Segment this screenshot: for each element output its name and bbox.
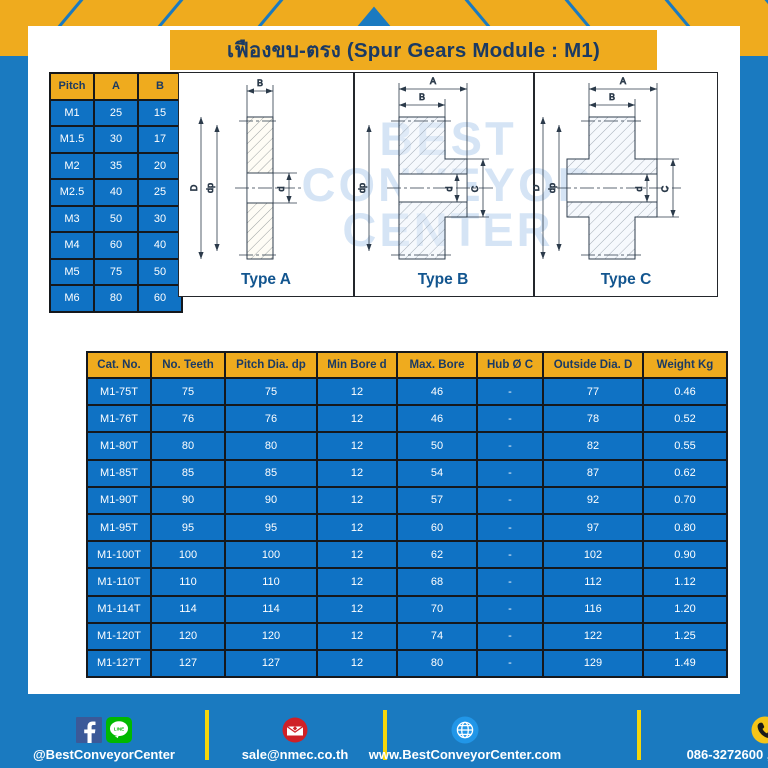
pitch-cell-value: 25 [95,101,137,126]
spec-cell-value: 90 [226,488,316,513]
pitch-col-pitch: Pitch [51,74,93,99]
spec-cell-value: 0.52 [644,406,726,431]
pitch-table-row: M1.53017 [51,127,181,152]
spec-cell-value: 75 [226,379,316,404]
spec-column-header: Min Bore d [318,353,396,377]
svg-text:D: D [189,184,199,191]
svg-text:A: A [430,76,436,86]
spec-cell-value: 1.20 [644,597,726,622]
pitch-table-row: M57550 [51,260,181,285]
pitch-cell-value: 20 [139,154,181,179]
svg-text:d: d [444,186,454,191]
spec-cell-value: 100 [226,542,316,567]
spec-cell-value: 0.80 [644,515,726,540]
table-row: M1-114T1141141270-1161.20 [88,597,726,622]
spec-column-header: No. Teeth [152,353,224,377]
spec-table-header-row: Cat. No.No. TeethPitch Dia. dpMin Bore d… [88,353,726,377]
spec-cell-value: 92 [544,488,642,513]
pitch-table-row: M23520 [51,154,181,179]
pitch-cell-pitch: M3 [51,207,93,232]
pitch-cell-pitch: M5 [51,260,93,285]
spec-cell-value: 12 [318,433,396,458]
spec-table: Cat. No.No. TeethPitch Dia. dpMin Bore d… [86,351,728,678]
spec-cell-value: 50 [398,433,476,458]
spec-cell-value: 12 [318,569,396,594]
spec-cell-value: 80 [226,433,316,458]
spec-cell-value: - [478,569,542,594]
type-c-label: Type C [601,271,652,289]
table-row: M1-120T1201201274-1221.25 [88,624,726,649]
spec-cell-value: - [478,651,542,676]
spec-column-header: Max. Bore [398,353,476,377]
spec-cell-value: - [478,406,542,431]
spec-cell-value: - [478,542,542,567]
diagram-type-c: A B D [533,73,718,296]
spec-cell-value: 74 [398,624,476,649]
footer-social-text: @BestConveyorCenter [33,747,175,762]
footer-contact-bar: LINE @BestConveyorCenter sale@nmec.co. [0,694,768,768]
type-a-label: Type A [241,271,291,289]
table-row: M1-90T90901257-920.70 [88,488,726,513]
spec-cell-catalog-no: M1-110T [88,569,150,594]
pitch-cell-value: 35 [95,154,137,179]
spec-cell-catalog-no: M1-100T [88,542,150,567]
line-icon[interactable]: LINE [106,717,132,743]
spec-cell-value: - [478,515,542,540]
spec-cell-value: - [478,433,542,458]
pitch-cell-pitch: M4 [51,233,93,258]
svg-text:dp: dp [357,183,367,193]
svg-text:LINE: LINE [114,726,124,731]
pitch-cell-pitch: M6 [51,286,93,311]
svg-text:B: B [609,92,615,102]
spec-cell-value: 0.55 [644,433,726,458]
spec-cell-value: 112 [544,569,642,594]
spec-cell-value: 76 [226,406,316,431]
spec-cell-value: 85 [152,461,224,486]
pitch-table: Pitch A B M12515M1.53017M23520M2.54025M3… [49,72,183,313]
spec-cell-value: 12 [318,488,396,513]
spec-cell-value: - [478,461,542,486]
spec-cell-value: 110 [152,569,224,594]
spec-column-header: Hub Ø C [478,353,542,377]
pitch-cell-value: 60 [95,233,137,258]
spec-cell-value: 80 [152,433,224,458]
type-b-label: Type B [418,271,469,289]
spec-cell-value: 0.70 [644,488,726,513]
spec-cell-catalog-no: M1-95T [88,515,150,540]
pitch-cell-pitch: M2 [51,154,93,179]
spec-table-container: Cat. No.No. TeethPitch Dia. dpMin Bore d… [86,351,728,678]
spec-cell-value: 12 [318,597,396,622]
pitch-cell-value: 50 [95,207,137,232]
pitch-cell-value: 17 [139,127,181,152]
spec-cell-catalog-no: M1-76T [88,406,150,431]
pitch-table-row: M2.54025 [51,180,181,205]
spec-cell-value: 12 [318,651,396,676]
pitch-col-b: B [139,74,181,99]
pitch-table-body: M12515M1.53017M23520M2.54025M35030M46040… [51,101,181,311]
pitch-table-header-row: Pitch A B [51,74,181,99]
table-row: M1-127T1271271280-1291.49 [88,651,726,676]
spec-cell-value: 60 [398,515,476,540]
page-title: เฟืองขบ-ตรง (Spur Gears Module : M1) [170,30,657,70]
type-c-drawing: A B D [533,73,718,269]
spec-cell-value: 129 [544,651,642,676]
facebook-icon[interactable] [76,717,102,743]
spec-cell-value: 120 [226,624,316,649]
spec-cell-value: 1.25 [644,624,726,649]
spec-cell-value: 127 [152,651,224,676]
spec-table-body: M1-75T75751246-770.46M1-76T76761246-780.… [88,379,726,676]
pitch-cell-value: 75 [95,260,137,285]
svg-text:B: B [419,92,425,102]
spec-cell-value: 116 [544,597,642,622]
spec-cell-value: 95 [226,515,316,540]
spec-cell-value: 12 [318,379,396,404]
svg-text:B: B [257,78,263,88]
globe-icon[interactable] [451,716,479,744]
pitch-cell-value: 50 [139,260,181,285]
type-b-drawing: A B dp [353,73,533,269]
spec-column-header: Weight Kg [644,353,726,377]
diagram-type-a: B D dp [179,73,353,296]
spec-cell-value: 12 [318,624,396,649]
spec-cell-value: 76 [152,406,224,431]
svg-text:A: A [620,76,626,86]
spec-cell-value: 46 [398,379,476,404]
table-row: M1-76T76761246-780.52 [88,406,726,431]
spec-cell-value: 12 [318,515,396,540]
pitch-table-row: M12515 [51,101,181,126]
spec-cell-value: 90 [152,488,224,513]
table-row: M1-95T95951260-970.80 [88,515,726,540]
spec-cell-value: 46 [398,406,476,431]
spec-cell-catalog-no: M1-80T [88,433,150,458]
svg-text:C: C [470,185,480,192]
spec-cell-value: - [478,597,542,622]
spec-cell-catalog-no: M1-75T [88,379,150,404]
footer-phone[interactable]: 086-3272600 , 02-0017766 [615,715,768,762]
pitch-cell-value: 40 [95,180,137,205]
spec-cell-value: 0.62 [644,461,726,486]
spec-cell-value: 100 [152,542,224,567]
pitch-cell-value: 30 [139,207,181,232]
spec-cell-value: 0.90 [644,542,726,567]
spec-cell-value: 77 [544,379,642,404]
footer-social[interactable]: LINE @BestConveyorCenter [8,715,200,762]
footer-divider-1 [205,710,209,760]
spec-column-header: Cat. No. [88,353,150,377]
spec-cell-value: 1.49 [644,651,726,676]
spec-cell-value: 127 [226,651,316,676]
spec-cell-value: 68 [398,569,476,594]
spec-cell-value: 122 [544,624,642,649]
spec-cell-value: 12 [318,542,396,567]
spec-cell-value: 110 [226,569,316,594]
spec-cell-value: 82 [544,433,642,458]
pitch-table-row: M68060 [51,286,181,311]
table-row: M1-110T1101101268-1121.12 [88,569,726,594]
spec-cell-catalog-no: M1-127T [88,651,150,676]
spec-cell-value: 120 [152,624,224,649]
spec-cell-value: 114 [152,597,224,622]
pitch-cell-value: 25 [139,180,181,205]
pitch-cell-pitch: M2.5 [51,180,93,205]
spec-cell-value: 57 [398,488,476,513]
phone-icon[interactable] [751,716,768,744]
svg-text:D: D [533,184,541,191]
spec-cell-catalog-no: M1-120T [88,624,150,649]
svg-text:d: d [634,186,644,191]
pitch-cell-value: 40 [139,233,181,258]
pitch-cell-value: 15 [139,101,181,126]
content-page: เฟืองขบ-ตรง (Spur Gears Module : M1) Pit… [28,26,740,694]
spec-cell-value: 85 [226,461,316,486]
spec-cell-value: 70 [398,597,476,622]
spec-cell-value: 54 [398,461,476,486]
spec-column-header: Pitch Dia. dp [226,353,316,377]
svg-text:C: C [660,185,670,192]
spec-cell-value: 1.12 [644,569,726,594]
spec-cell-value: 102 [544,542,642,567]
pitch-table-row: M46040 [51,233,181,258]
page-title-text: เฟืองขบ-ตรง (Spur Gears Module : M1) [227,34,600,67]
spec-cell-catalog-no: M1-114T [88,597,150,622]
spec-cell-value: 114 [226,597,316,622]
pitch-table-row: M35030 [51,207,181,232]
pitch-cell-value: 30 [95,127,137,152]
svg-text:dp: dp [547,183,557,193]
table-row: M1-75T75751246-770.46 [88,379,726,404]
footer-website-text: www.BestConveyorCenter.com [369,747,561,762]
svg-text:dp: dp [205,183,215,193]
pitch-col-a: A [95,74,137,99]
svg-text:d: d [276,186,286,191]
spec-cell-value: 75 [152,379,224,404]
table-row: M1-80T80801250-820.55 [88,433,726,458]
footer-phone-text: 086-3272600 , 02-0017766 [687,747,768,762]
pitch-cell-value: 80 [95,286,137,311]
spec-cell-value: 78 [544,406,642,431]
spec-cell-catalog-no: M1-85T [88,461,150,486]
spec-cell-value: 97 [544,515,642,540]
pitch-cell-pitch: M1 [51,101,93,126]
page-frame: เฟืองขบ-ตรง (Spur Gears Module : M1) Pit… [0,0,768,768]
gear-type-diagrams: BEST CONVEYOR CENTER [178,72,718,297]
spec-cell-value: - [478,379,542,404]
spec-cell-value: - [478,488,542,513]
spec-cell-value: 80 [398,651,476,676]
spec-cell-value: - [478,624,542,649]
table-row: M1-85T85851254-870.62 [88,461,726,486]
spec-cell-value: 87 [544,461,642,486]
pitch-cell-pitch: M1.5 [51,127,93,152]
table-row: M1-100T1001001262-1020.90 [88,542,726,567]
spec-cell-value: 95 [152,515,224,540]
spec-cell-value: 12 [318,461,396,486]
spec-column-header: Outside Dia. D [544,353,642,377]
spec-cell-catalog-no: M1-90T [88,488,150,513]
pitch-cell-value: 60 [139,286,181,311]
diagram-type-b: A B dp [353,73,533,296]
type-a-drawing: B D dp [179,73,353,269]
spec-cell-value: 12 [318,406,396,431]
footer-website[interactable]: www.BestConveyorCenter.com [300,715,630,762]
spec-cell-value: 62 [398,542,476,567]
spec-cell-value: 0.46 [644,379,726,404]
